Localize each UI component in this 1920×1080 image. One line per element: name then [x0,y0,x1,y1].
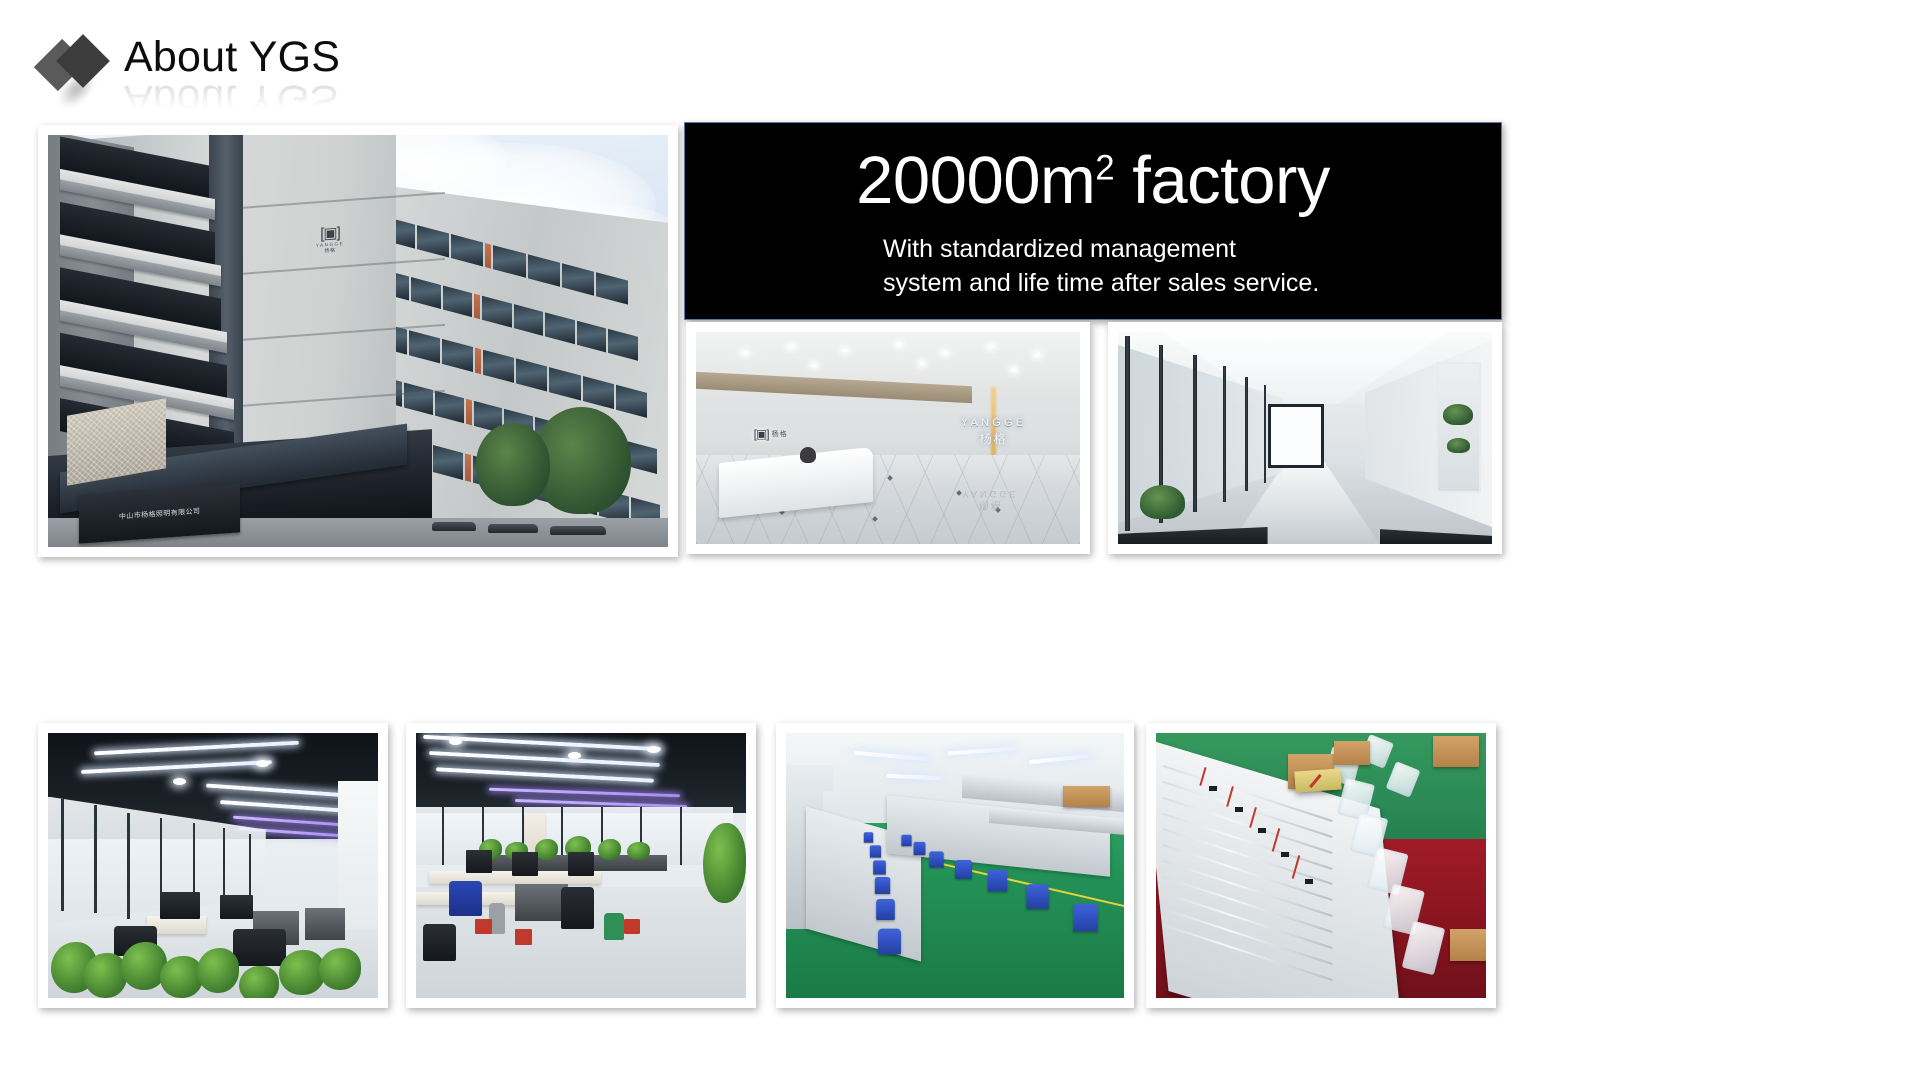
diamond-logo-icon [38,36,116,92]
headline-text: 20000m2 factory [856,147,1330,215]
slide-header: About YGS About YGS [0,0,1920,130]
reception-wall-sign: YANGGE 杨格 [961,417,1026,447]
facade-brand-logo: [▣] YANGGE 杨格 [315,225,345,261]
photo-open-plan-office-one[interactable] [38,723,388,1008]
open-plan-office-two-image [416,733,746,998]
production-line-image [786,733,1124,998]
reception-sign-reflection: 杨格 YANGGE [963,489,1019,514]
packaging-area-image [1156,733,1486,998]
page-title: About YGS [124,36,340,79]
photo-open-plan-office-two[interactable] [406,723,756,1008]
office-corridor-image [1118,332,1492,544]
reception-lobby-image: [▣] 杨格 YANGGE 杨格 杨格 YANGGE [696,332,1080,544]
reception-desk-logo: [▣] 杨格 [754,425,808,442]
photo-factory-building[interactable]: [▣] YANGGE 杨格 [38,125,678,557]
headline-subtitle: With standardized management system and … [685,233,1501,300]
factory-building-image: [▣] YANGGE 杨格 [48,135,668,547]
open-plan-office-one-image [48,733,378,998]
slide-root: About YGS About YGS [0,0,1920,1080]
photo-production-line[interactable] [776,723,1134,1008]
page-title-reflection: About YGS [124,78,338,121]
photo-packaging-area[interactable] [1146,723,1496,1008]
photo-reception-lobby[interactable]: [▣] 杨格 YANGGE 杨格 杨格 YANGGE [686,322,1090,554]
headline-panel: 20000m2 factory With standardized manage… [684,122,1502,320]
photo-office-corridor[interactable] [1108,322,1502,554]
